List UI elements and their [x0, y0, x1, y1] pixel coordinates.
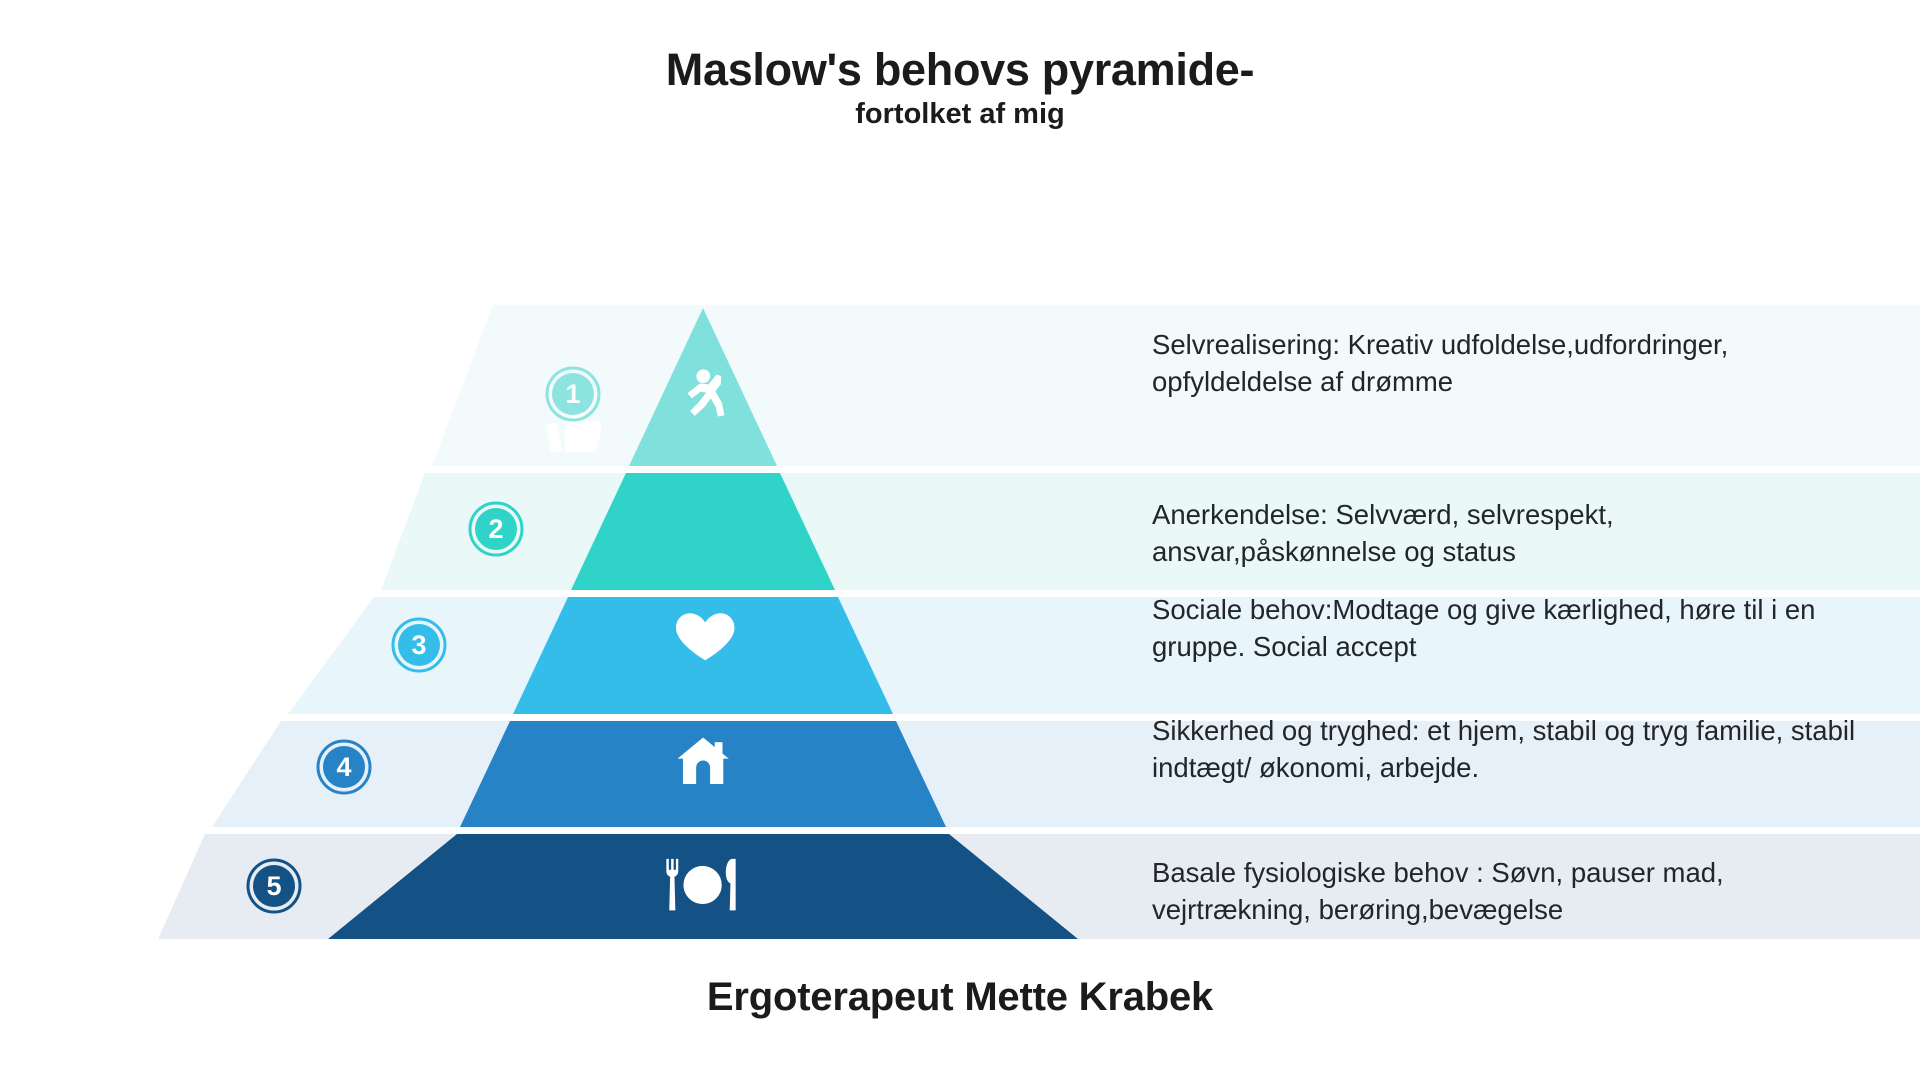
- badge-level-1[interactable]: 1: [547, 368, 599, 420]
- badge-number-5: 5: [266, 871, 281, 901]
- badge-number-4: 4: [336, 752, 351, 782]
- diagram-canvas: Maslow's behovs pyramide- fortolket af m…: [0, 0, 1920, 1080]
- level-description-1: Selvrealisering: Kreativ udfoldelse,udfo…: [1152, 327, 1862, 400]
- badge-number-2: 2: [488, 514, 503, 544]
- footer-caption: Ergoterapeut Mette Krabek: [0, 975, 1920, 1020]
- pyramid-slice-4[interactable]: [460, 721, 946, 827]
- badge-number-1: 1: [565, 379, 580, 409]
- badge-number-3: 3: [411, 630, 426, 660]
- level-description-4: Sikkerhed og tryghed: et hjem, stabil og…: [1152, 713, 1862, 786]
- badge-level-2[interactable]: 2: [470, 503, 522, 555]
- level-description-3: Sociale behov:Modtage og give kærlighed,…: [1152, 592, 1862, 665]
- level-description-2: Anerkendelse: Selvværd, selvrespekt, ans…: [1152, 497, 1862, 570]
- badge-level-3[interactable]: 3: [393, 619, 445, 671]
- badge-level-4[interactable]: 4: [318, 741, 370, 793]
- level-description-5: Basale fysiologiske behov : Søvn, pauser…: [1152, 855, 1862, 928]
- badge-level-5[interactable]: 5: [248, 860, 300, 912]
